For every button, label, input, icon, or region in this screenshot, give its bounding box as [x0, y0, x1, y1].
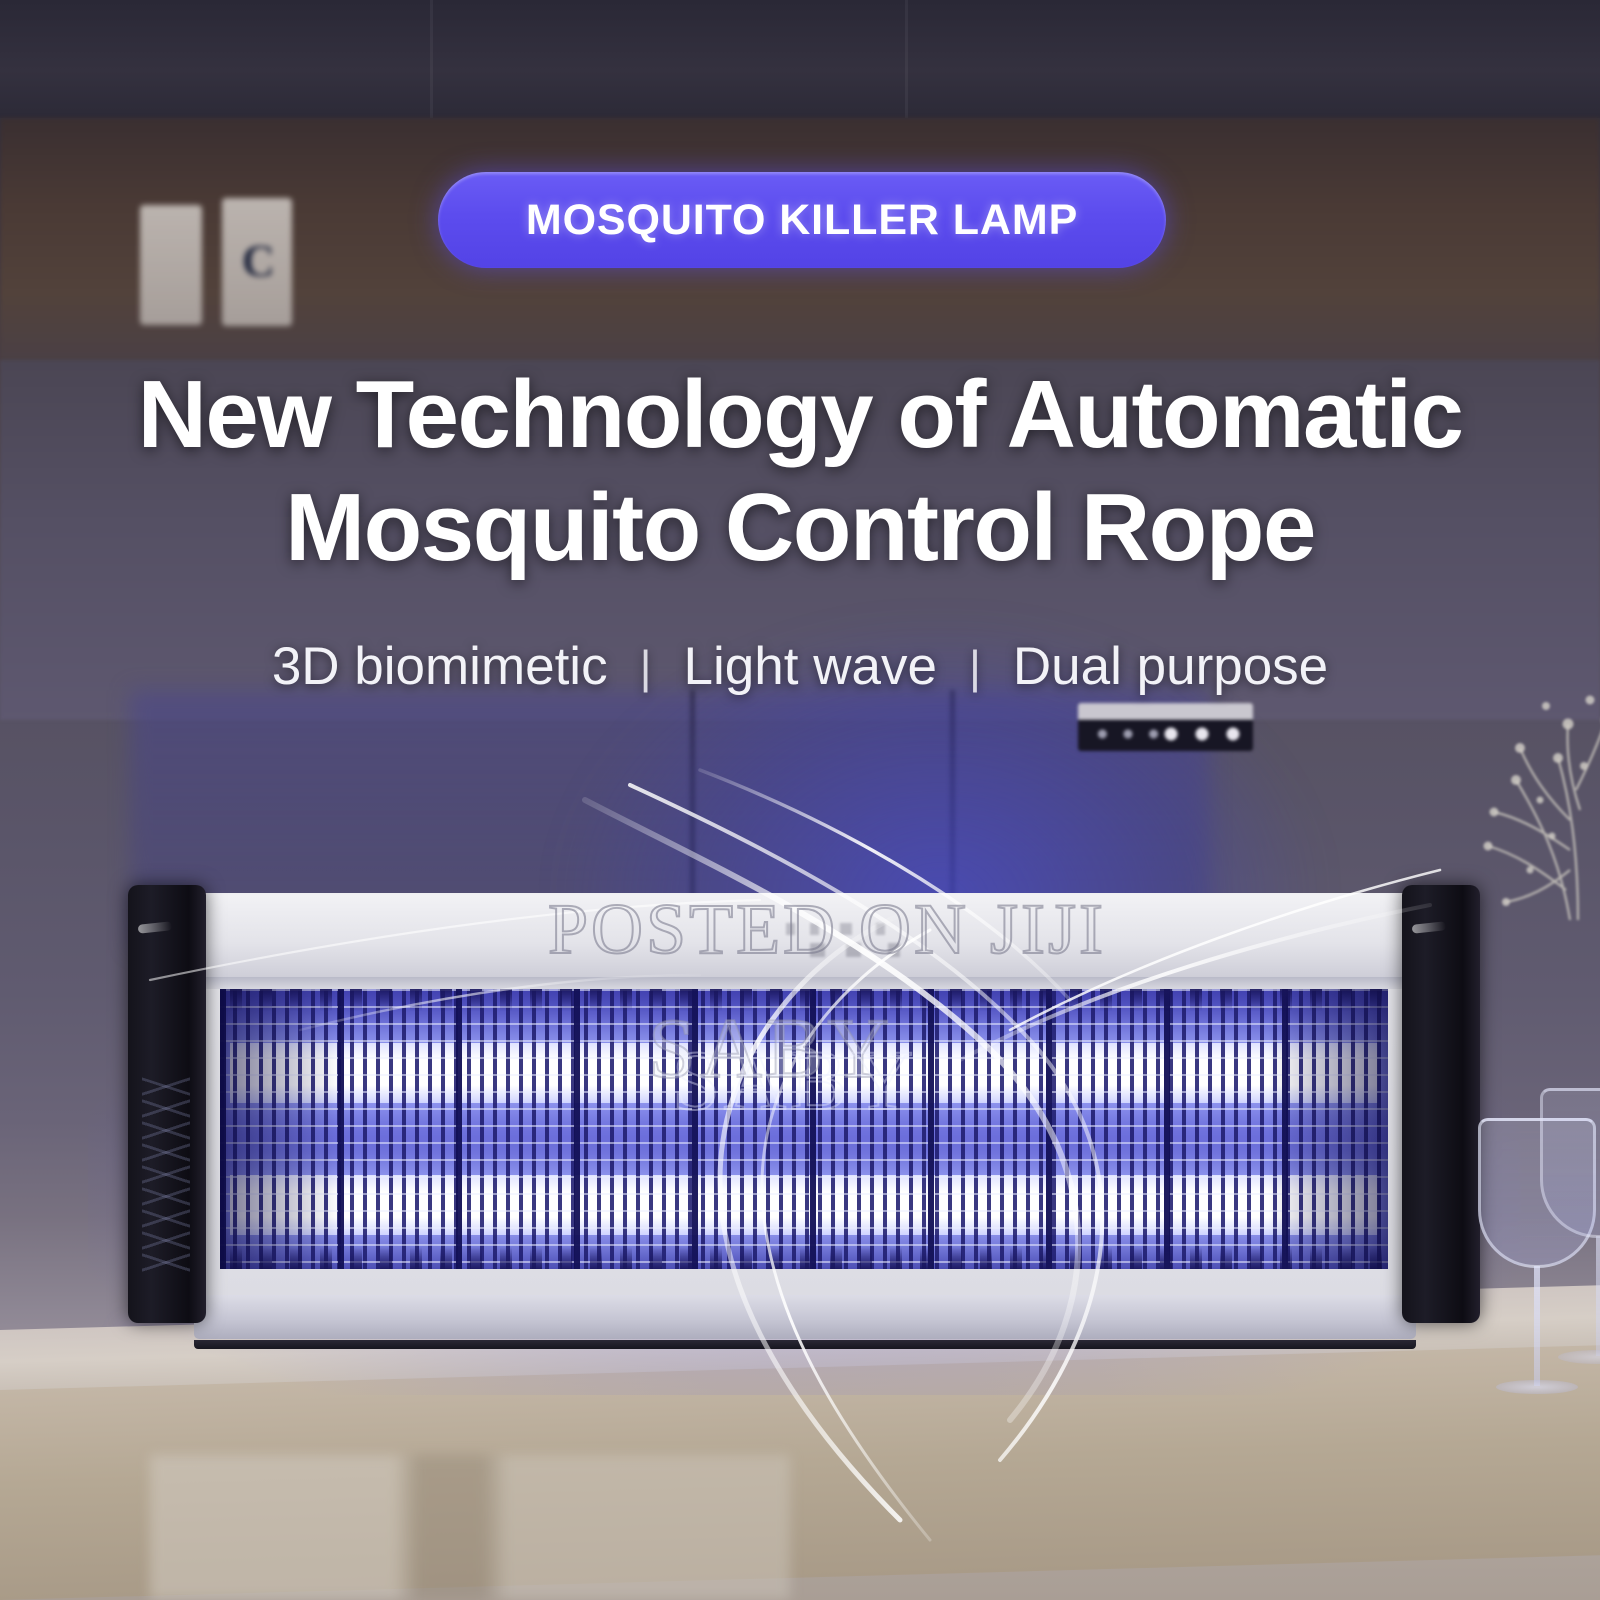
canister [140, 205, 202, 325]
watermark-posted-on-jiji: POSTED ON JIJI [548, 888, 1106, 971]
feature-list: 3D biomimetic | Light wave | Dual purpos… [0, 636, 1600, 697]
lamp-end-cap-right [1402, 885, 1480, 1323]
lamp-base-trim [194, 1340, 1416, 1349]
canister-glyph: C [242, 234, 275, 287]
cabinet-seam [430, 0, 433, 118]
feature-item-2: Light wave [684, 636, 937, 697]
glass-foot [1496, 1380, 1578, 1394]
product-category-badge: MOSQUITO KILLER LAMP [438, 172, 1166, 268]
glass-stem [1534, 1266, 1540, 1386]
feature-separator: | [969, 640, 981, 694]
feature-separator: | [640, 640, 652, 694]
appliance-indicator-lights [1159, 725, 1245, 743]
feature-item-1: 3D biomimetic [272, 636, 608, 697]
background-chair [150, 1455, 790, 1600]
glass-stem [1596, 1236, 1600, 1356]
headline: New Technology of Automatic Mosquito Con… [0, 358, 1600, 585]
watermark-saby-outline: SABY [672, 1030, 917, 1130]
cabinet-seam [905, 0, 908, 118]
badge-label: MOSQUITO KILLER LAMP [526, 196, 1078, 245]
cavity-shade-right [1268, 989, 1388, 1269]
headline-line-1: New Technology of Automatic [138, 361, 1463, 468]
cavity-shade-left [220, 989, 340, 1269]
kitchen-appliance [1078, 703, 1253, 751]
cap-highlight [138, 921, 173, 934]
upper-cabinet-band [0, 0, 1600, 118]
appliance-controls [1088, 727, 1168, 741]
grid-teeth-bottom [220, 1247, 1388, 1269]
cap-highlight [1412, 921, 1447, 934]
headline-line-2: Mosquito Control Rope [0, 471, 1600, 584]
cap-vent-chevrons [142, 1077, 190, 1283]
lamp-base [194, 1295, 1416, 1339]
feature-item-3: Dual purpose [1013, 636, 1328, 697]
lamp-end-cap-left [128, 885, 206, 1323]
lamp-housing-lip [188, 977, 1422, 989]
canister: C [222, 198, 292, 326]
product-advertisement-image: C [0, 0, 1600, 1600]
